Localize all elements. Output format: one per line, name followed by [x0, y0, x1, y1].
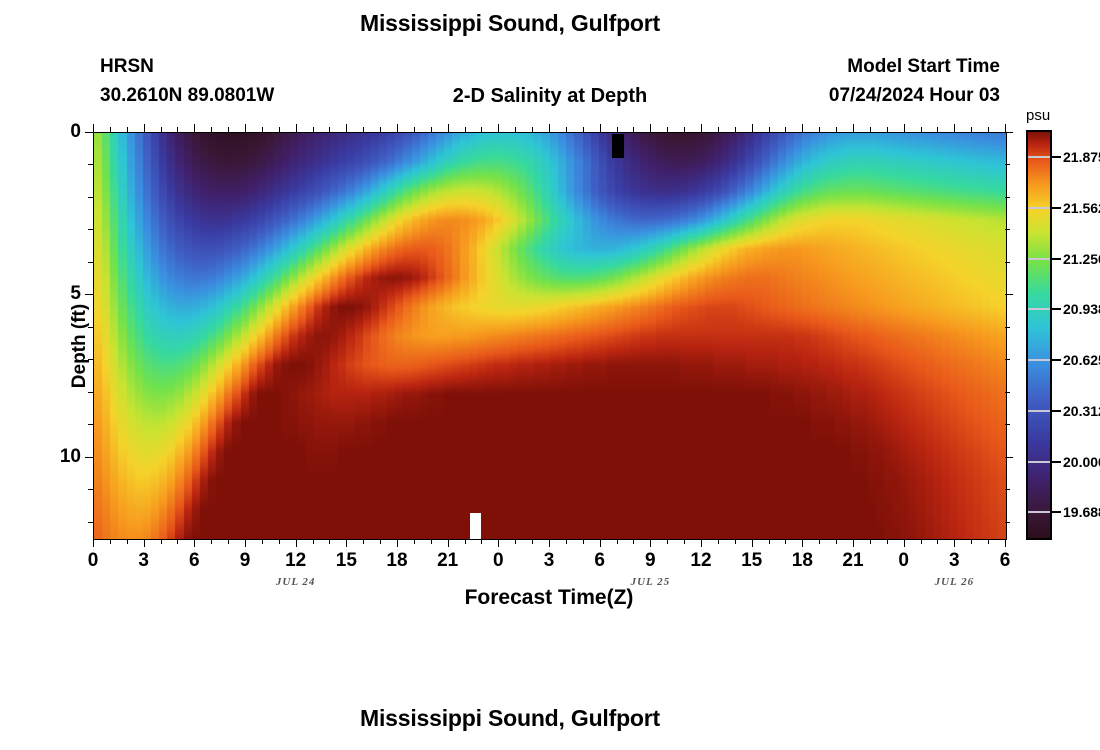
- colorbar-tick-inner: [1028, 156, 1050, 158]
- x-axis-tick-top: [93, 124, 94, 132]
- x-axis-tick: [853, 539, 854, 547]
- colorbar-tick-inner: [1028, 511, 1050, 513]
- x-axis-tick-label: 3: [138, 550, 149, 572]
- x-axis-tick-top: [194, 124, 195, 132]
- x-axis-tick: [921, 539, 922, 544]
- colorbar-tick-label: 20.312: [1063, 403, 1100, 419]
- station-id-label: HRSN: [100, 56, 154, 78]
- x-axis-tick: [667, 539, 668, 544]
- colorbar-tick-inner: [1028, 410, 1050, 412]
- x-axis-tick-top: [735, 127, 736, 132]
- x-axis-tick: [752, 539, 753, 547]
- x-axis-tick: [583, 539, 584, 544]
- x-axis-tick-label: 0: [898, 550, 909, 572]
- observation-marker-black: [612, 134, 624, 158]
- x-axis-tick-label: 3: [949, 550, 960, 572]
- x-axis-tick-top: [785, 127, 786, 132]
- x-axis-tick: [887, 539, 888, 544]
- x-axis-tick: [228, 539, 229, 544]
- x-axis-tick: [465, 539, 466, 544]
- x-axis-tick: [380, 539, 381, 544]
- x-axis-tick: [650, 539, 651, 547]
- heatmap-canvas: [94, 133, 1006, 539]
- x-axis-tick-top: [127, 127, 128, 132]
- colorbar-tick-label: 21.875: [1063, 149, 1100, 165]
- colorbar-tick-label: 20.000: [1063, 454, 1100, 470]
- x-axis-tick-label: 0: [88, 550, 99, 572]
- x-axis-tick-top: [819, 127, 820, 132]
- x-axis-tick-label: 6: [189, 550, 200, 572]
- x-axis-tick: [988, 539, 989, 544]
- x-axis-tick-label: 3: [544, 550, 555, 572]
- x-axis-tick: [262, 539, 263, 544]
- x-axis-tick-top: [954, 124, 955, 132]
- x-axis-tick-top: [887, 127, 888, 132]
- x-axis-tick: [144, 539, 145, 547]
- colorbar-tick-mark: [1052, 308, 1061, 310]
- colorbar-tick-inner: [1028, 461, 1050, 463]
- y-axis-tick-right: [1005, 392, 1010, 393]
- x-axis-tick-top: [904, 124, 905, 132]
- x-axis-tick: [836, 539, 837, 544]
- x-axis-tick-top: [650, 124, 651, 132]
- chart-subtitle: 2-D Salinity at Depth: [330, 85, 770, 108]
- y-axis-tick-right: [1005, 262, 1010, 263]
- x-axis-tick: [279, 539, 280, 544]
- x-axis-tick: [566, 539, 567, 544]
- x-axis-tick-top: [769, 127, 770, 132]
- x-axis-tick: [769, 539, 770, 544]
- x-axis-tick: [296, 539, 297, 547]
- x-axis-tick-top: [245, 124, 246, 132]
- y-axis-tick-right: [1005, 197, 1010, 198]
- station-coordinates: 30.2610N 89.0801W: [100, 85, 274, 107]
- x-axis-tick-top: [465, 127, 466, 132]
- x-axis-tick-top: [971, 127, 972, 132]
- x-axis-tick-top: [481, 127, 482, 132]
- x-axis-tick-top: [279, 127, 280, 132]
- y-axis-tick: [88, 197, 93, 198]
- y-axis-tick-right: [1005, 294, 1013, 295]
- x-axis-tick: [617, 539, 618, 544]
- colorbar-tick-mark: [1052, 511, 1061, 513]
- x-axis-tick-top: [296, 124, 297, 132]
- x-axis-tick: [245, 539, 246, 547]
- x-axis-tick-top: [363, 127, 364, 132]
- colorbar-unit-label: psu: [1026, 107, 1050, 124]
- x-axis-tick-label: 18: [386, 550, 407, 572]
- colorbar-tick-inner: [1028, 359, 1050, 361]
- colorbar-tick-label: 20.625: [1063, 352, 1100, 368]
- x-axis-tick: [110, 539, 111, 544]
- colorbar-tick-inner: [1028, 308, 1050, 310]
- x-axis-tick: [870, 539, 871, 544]
- x-axis-tick-top: [549, 124, 550, 132]
- x-axis-tick: [177, 539, 178, 544]
- x-axis-tick-top: [988, 127, 989, 132]
- x-axis-tick: [397, 539, 398, 547]
- x-axis-tick: [954, 539, 955, 547]
- colorbar-tick-mark: [1052, 410, 1061, 412]
- x-axis-tick-top: [870, 127, 871, 132]
- y-axis-tick-right: [1005, 489, 1010, 490]
- x-axis-tick: [329, 539, 330, 544]
- x-axis-tick: [785, 539, 786, 544]
- x-axis-tick-top: [836, 127, 837, 132]
- x-axis-tick: [161, 539, 162, 544]
- y-axis-tick-right: [1005, 229, 1010, 230]
- x-axis-tick-top: [313, 127, 314, 132]
- y-axis-tick-right: [1005, 424, 1010, 425]
- colorbar-tick-label: 19.688: [1063, 504, 1100, 520]
- x-axis-tick-label: 9: [240, 550, 251, 572]
- x-axis-tick-top: [802, 124, 803, 132]
- y-axis-tick-right: [1005, 359, 1010, 360]
- x-axis-tick: [819, 539, 820, 544]
- colorbar-tick-mark: [1052, 359, 1061, 361]
- x-axis-tick-top: [177, 127, 178, 132]
- x-axis-tick: [414, 539, 415, 544]
- x-axis-tick: [448, 539, 449, 547]
- x-axis-tick-top: [144, 124, 145, 132]
- y-axis-title: Depth (ft): [69, 246, 91, 446]
- x-axis-tick-top: [329, 127, 330, 132]
- x-axis-tick-label: 21: [842, 550, 863, 572]
- x-axis-tick: [313, 539, 314, 544]
- x-axis-tick: [701, 539, 702, 547]
- y-axis-tick: [88, 229, 93, 230]
- colorbar-tick-mark: [1052, 461, 1061, 463]
- x-axis-tick-top: [633, 127, 634, 132]
- x-axis-tick: [532, 539, 533, 544]
- x-axis-tick: [549, 539, 550, 547]
- x-axis-tick-top: [262, 127, 263, 132]
- x-axis-tick: [93, 539, 94, 547]
- x-axis-tick-top: [752, 124, 753, 132]
- x-axis-tick-label: 0: [493, 550, 504, 572]
- x-axis-tick-label: 6: [1000, 550, 1011, 572]
- x-axis-tick: [498, 539, 499, 547]
- x-axis-tick-top: [431, 127, 432, 132]
- x-axis-tick: [633, 539, 634, 544]
- colorbar-tick-label: 21.562: [1063, 200, 1100, 216]
- y-axis-tick: [88, 489, 93, 490]
- x-axis-tick-label: 21: [437, 550, 458, 572]
- x-axis-tick-top: [718, 127, 719, 132]
- colorbar-tick-mark: [1052, 258, 1061, 260]
- x-axis-tick: [1005, 539, 1006, 547]
- x-axis-tick-top: [532, 127, 533, 132]
- colorbar-tick-label: 20.938: [1063, 301, 1100, 317]
- y-axis-tick-right: [1005, 522, 1010, 523]
- x-axis-tick-top: [937, 127, 938, 132]
- x-axis-tick: [194, 539, 195, 547]
- x-axis-tick: [904, 539, 905, 547]
- y-axis-tick-right: [1005, 457, 1013, 458]
- model-start-time-label: Model Start Time: [847, 56, 1000, 78]
- colorbar-tick-mark: [1052, 156, 1061, 158]
- x-axis-tick: [718, 539, 719, 544]
- x-axis-tick: [431, 539, 432, 544]
- x-axis-tick-top: [921, 127, 922, 132]
- x-axis-tick-top: [515, 127, 516, 132]
- y-axis-tick: [88, 522, 93, 523]
- x-axis-tick-top: [397, 124, 398, 132]
- x-axis-tick-label: 9: [645, 550, 656, 572]
- y-axis-tick-label: 0: [41, 121, 81, 143]
- y-axis-tick: [85, 457, 93, 458]
- x-axis-tick: [515, 539, 516, 544]
- y-axis-tick-right: [1005, 132, 1013, 133]
- footer-title: Mississippi Sound, Gulfport: [0, 705, 1020, 732]
- x-axis-tick-top: [414, 127, 415, 132]
- x-axis-tick-label: 18: [792, 550, 813, 572]
- x-axis-tick: [971, 539, 972, 544]
- y-axis-tick-label: 10: [41, 446, 81, 468]
- x-axis-tick-top: [448, 124, 449, 132]
- colorbar-tick-inner: [1028, 258, 1050, 260]
- model-start-time-value: 07/24/2024 Hour 03: [829, 85, 1000, 107]
- page-title: Mississippi Sound, Gulfport: [0, 10, 1020, 37]
- x-axis-tick-label: 15: [336, 550, 357, 572]
- x-axis-tick: [684, 539, 685, 544]
- x-axis-tick-top: [498, 124, 499, 132]
- x-axis-tick-top: [110, 127, 111, 132]
- x-axis-tick-label: 15: [741, 550, 762, 572]
- x-axis-tick: [211, 539, 212, 544]
- colorbar-tick-label: 21.250: [1063, 251, 1100, 267]
- x-axis-tick: [346, 539, 347, 547]
- x-axis-tick-label: 12: [285, 550, 306, 572]
- x-axis-tick-top: [1005, 124, 1006, 132]
- heatmap-plot-area[interactable]: [93, 132, 1007, 540]
- x-axis-tick-top: [667, 127, 668, 132]
- colorbar-tick-inner: [1028, 207, 1050, 209]
- x-axis-tick-top: [211, 127, 212, 132]
- x-axis-tick-label: 12: [690, 550, 711, 572]
- y-axis-tick-right: [1005, 327, 1010, 328]
- x-axis-tick: [937, 539, 938, 544]
- x-axis-tick-top: [684, 127, 685, 132]
- x-axis-tick-top: [600, 124, 601, 132]
- y-axis-tick: [85, 132, 93, 133]
- x-axis-tick: [600, 539, 601, 547]
- x-axis-tick-top: [228, 127, 229, 132]
- x-axis-tick-top: [701, 124, 702, 132]
- colorbar-tick-mark: [1052, 207, 1061, 209]
- x-axis-tick: [363, 539, 364, 544]
- x-axis-tick-top: [617, 127, 618, 132]
- x-axis-tick-top: [583, 127, 584, 132]
- y-axis-tick: [88, 164, 93, 165]
- x-axis-tick-label: 6: [594, 550, 605, 572]
- x-axis-tick: [802, 539, 803, 547]
- x-axis-tick-top: [853, 124, 854, 132]
- y-axis-tick-right: [1005, 164, 1010, 165]
- x-axis-tick-top: [161, 127, 162, 132]
- x-axis-tick-top: [566, 127, 567, 132]
- x-axis-tick: [127, 539, 128, 544]
- x-axis-tick: [481, 539, 482, 544]
- colorbar-gradient: [1026, 130, 1052, 540]
- x-axis-tick-top: [380, 127, 381, 132]
- observation-marker-white: [470, 513, 481, 539]
- x-axis-tick: [735, 539, 736, 544]
- x-axis-title: Forecast Time(Z): [93, 586, 1005, 610]
- colorbar[interactable]: [1026, 130, 1052, 540]
- x-axis-tick-top: [346, 124, 347, 132]
